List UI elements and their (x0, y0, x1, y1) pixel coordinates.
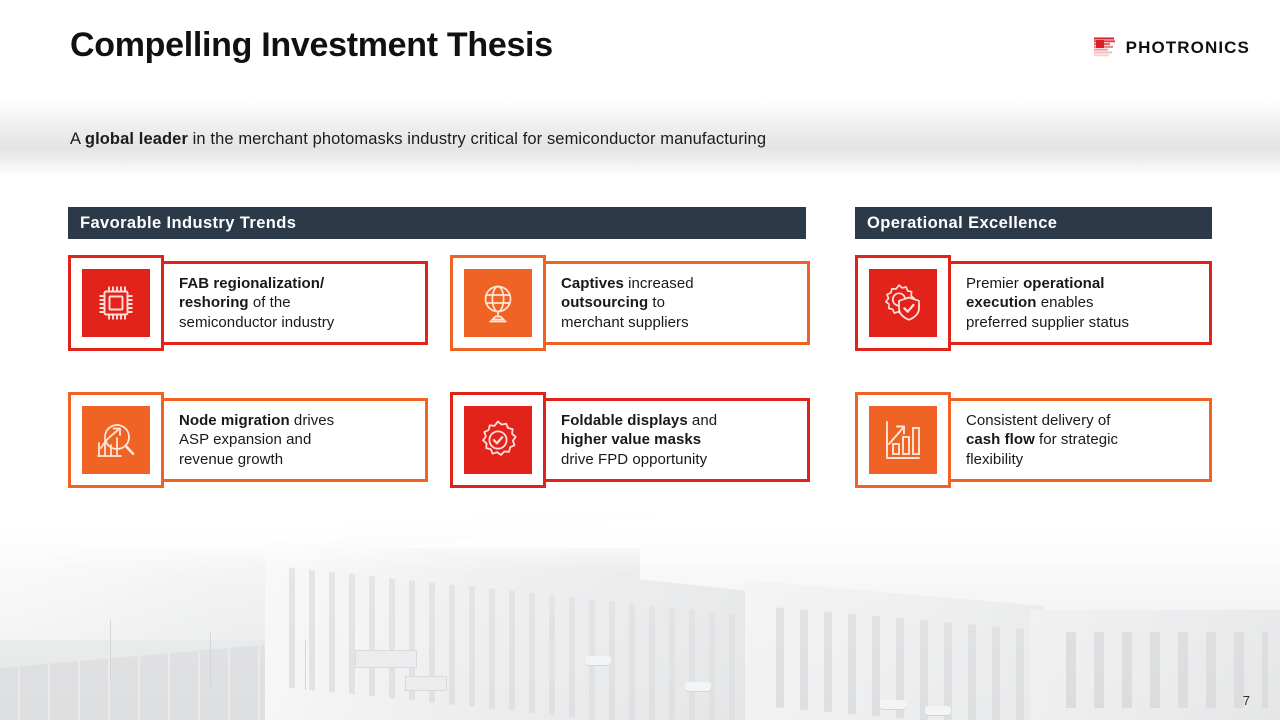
gear-shield-check-icon (869, 269, 937, 337)
card-icon-box (855, 392, 951, 488)
card-text: FAB regionalization/reshoring of thesemi… (179, 274, 334, 332)
card-icon-box (855, 255, 951, 351)
card-node-migration[interactable]: Node migration drivesASP expansion andre… (68, 392, 428, 488)
card-captives-outsourcing[interactable]: Captives increasedoutsourcing tomerchant… (450, 255, 810, 351)
card-premier-operational-execution[interactable]: Premier operationalexecution enablespref… (855, 255, 1212, 351)
card-text-box: Consistent delivery ofcash flow for stra… (939, 398, 1212, 482)
photronics-wordmark: PHOTRONICS (1126, 38, 1250, 58)
photronics-logo: PHOTRONICS (1093, 36, 1250, 60)
card-fab-regionalization[interactable]: FAB regionalization/reshoring of thesemi… (68, 255, 428, 351)
subtitle-lead: A (70, 130, 85, 148)
card-icon-box (68, 255, 164, 351)
subtitle-band: A global leader in the merchant photomas… (0, 100, 1280, 178)
card-text: Captives increasedoutsourcing tomerchant… (561, 274, 694, 332)
card-foldable-displays[interactable]: Foldable displays andhigher value masksd… (450, 392, 810, 488)
gear-check-icon (464, 406, 532, 474)
card-icon-box (450, 392, 546, 488)
card-text: Consistent delivery ofcash flow for stra… (966, 411, 1118, 469)
subtitle-rest: in the merchant photomasks industry crit… (188, 130, 766, 148)
bar-chart-arrow-icon (869, 406, 937, 474)
card-text: Node migration drivesASP expansion andre… (179, 411, 334, 469)
card-text-box: Foldable displays andhigher value masksd… (534, 398, 810, 482)
magnifier-growth-chart-icon (82, 406, 150, 474)
card-text-box: Node migration drivesASP expansion andre… (152, 398, 428, 482)
page-title: Compelling Investment Thesis (70, 26, 553, 65)
column-header-favorable-industry-trends: Favorable Industry Trends (68, 207, 806, 239)
subtitle-text: A global leader in the merchant photomas… (70, 130, 766, 149)
card-text: Premier operationalexecution enablespref… (966, 274, 1129, 332)
photronics-p-mark-icon (1093, 36, 1117, 60)
card-text-box: Captives increasedoutsourcing tomerchant… (534, 261, 810, 345)
card-icon-box (68, 392, 164, 488)
subtitle-emphasis: global leader (85, 130, 188, 148)
card-text-box: Premier operationalexecution enablespref… (939, 261, 1212, 345)
card-text: Foldable displays andhigher value masksd… (561, 411, 717, 469)
card-text-box: FAB regionalization/reshoring of thesemi… (152, 261, 428, 345)
photo-top-fade (0, 500, 1280, 570)
background-facility-photo (0, 500, 1280, 720)
card-icon-box (450, 255, 546, 351)
column-header-operational-excellence: Operational Excellence (855, 207, 1212, 239)
globe-stand-icon (464, 269, 532, 337)
microchip-icon (82, 269, 150, 337)
card-cash-flow-delivery[interactable]: Consistent delivery ofcash flow for stra… (855, 392, 1212, 488)
